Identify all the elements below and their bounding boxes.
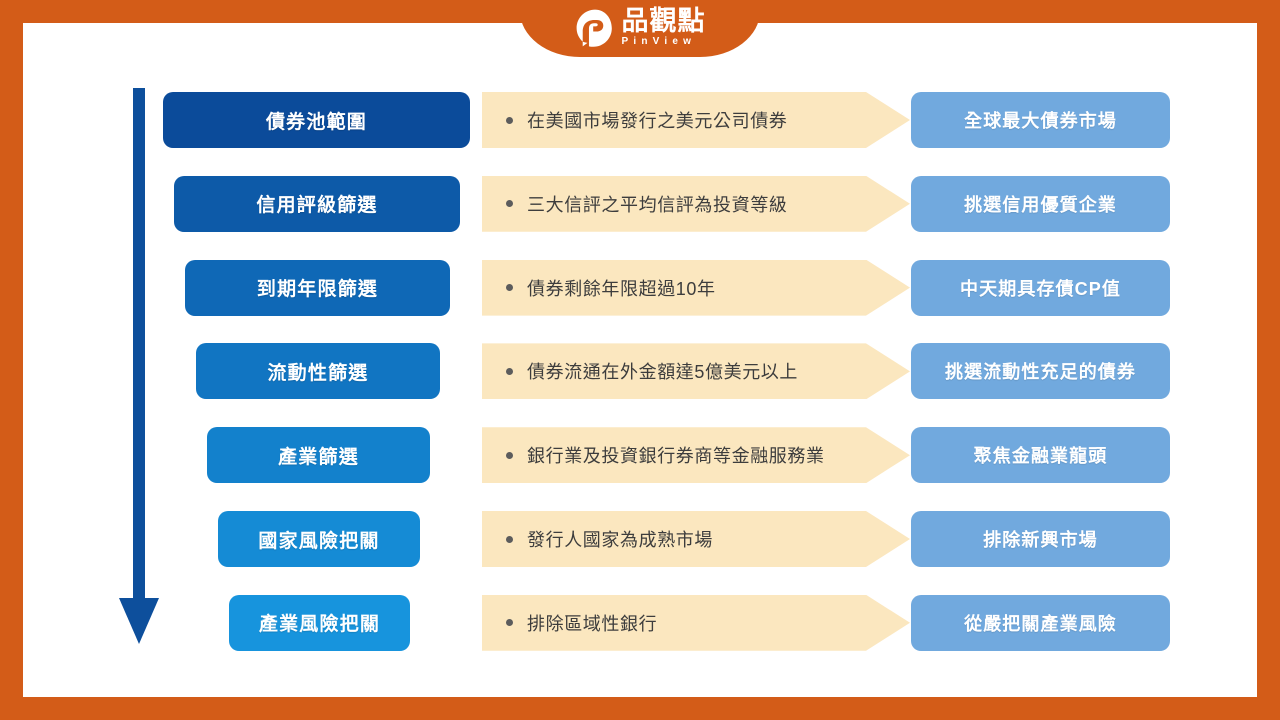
- stage-pill[interactable]: 到期年限篩選: [185, 260, 450, 316]
- flow-row: 國家風險把關發行人國家為成熟市場排除新興市場: [0, 511, 1280, 567]
- brand-name-cn: 品觀點: [622, 8, 706, 36]
- stage-pill[interactable]: 債券池範圍: [163, 92, 470, 148]
- bullet-dot-icon: [506, 284, 513, 291]
- brand-name-en: PinView: [622, 37, 697, 47]
- stage-pill[interactable]: 產業篩選: [207, 427, 430, 483]
- criterion-arrow-band: 排除區域性銀行: [482, 595, 910, 651]
- flow-row: 信用評級篩選三大信評之平均信評為投資等級挑選信用優質企業: [0, 176, 1280, 232]
- criterion-text: 三大信評之平均信評為投資等級: [527, 191, 787, 217]
- criterion-text: 發行人國家為成熟市場: [527, 526, 713, 552]
- criterion-text: 銀行業及投資銀行券商等金融服務業: [527, 442, 825, 468]
- criterion-text: 排除區域性銀行: [527, 610, 657, 636]
- bullet-dot-icon: [506, 368, 513, 375]
- criterion-arrow-band: 發行人國家為成熟市場: [482, 511, 910, 567]
- flow-row: 產業風險把關排除區域性銀行從嚴把關產業風險: [0, 595, 1280, 651]
- criterion-arrow-band: 在美國市場發行之美元公司債券: [482, 92, 910, 148]
- outcome-pill[interactable]: 從嚴把關產業風險: [911, 595, 1170, 651]
- criterion-arrow-band: 債券流通在外金額達5億美元以上: [482, 343, 910, 399]
- stage-pill[interactable]: 國家風險把關: [218, 511, 420, 567]
- criterion-arrow-band: 債券剩餘年限超過10年: [482, 260, 910, 316]
- outcome-pill[interactable]: 中天期具存債CP值: [911, 260, 1170, 316]
- flow-row: 產業篩選銀行業及投資銀行券商等金融服務業聚焦金融業龍頭: [0, 427, 1280, 483]
- criterion-text: 債券剩餘年限超過10年: [527, 275, 716, 301]
- outcome-pill[interactable]: 聚焦金融業龍頭: [911, 427, 1170, 483]
- outcome-pill[interactable]: 挑選信用優質企業: [911, 176, 1170, 232]
- bullet-dot-icon: [506, 200, 513, 207]
- brand-wordmark: 品觀點 PinView: [622, 8, 706, 48]
- outcome-pill[interactable]: 排除新興市場: [911, 511, 1170, 567]
- stage-pill[interactable]: 信用評級篩選: [174, 176, 460, 232]
- outcome-pill[interactable]: 全球最大債券市場: [911, 92, 1170, 148]
- criterion-text: 債券流通在外金額達5億美元以上: [527, 358, 798, 384]
- outcome-pill[interactable]: 挑選流動性充足的債券: [911, 343, 1170, 399]
- bullet-dot-icon: [506, 536, 513, 543]
- bullet-dot-icon: [506, 117, 513, 124]
- pinview-p-mark-icon: [575, 8, 615, 48]
- stage-pill[interactable]: 產業風險把關: [229, 595, 410, 651]
- flow-row: 債券池範圍在美國市場發行之美元公司債券全球最大債券市場: [0, 92, 1280, 148]
- stage-pill[interactable]: 流動性篩選: [196, 343, 440, 399]
- criterion-arrow-band: 三大信評之平均信評為投資等級: [482, 176, 910, 232]
- bullet-dot-icon: [506, 452, 513, 459]
- brand-logo-tab: 品觀點 PinView: [520, 0, 760, 57]
- criterion-arrow-band: 銀行業及投資銀行券商等金融服務業: [482, 427, 910, 483]
- flow-row: 到期年限篩選債券剩餘年限超過10年中天期具存債CP值: [0, 260, 1280, 316]
- slide-root: 品觀點 PinView 債券池範圍在美國市場發行之美元公司債券全球最大債券市場信…: [0, 0, 1280, 720]
- flow-row: 流動性篩選債券流通在外金額達5億美元以上挑選流動性充足的債券: [0, 343, 1280, 399]
- criterion-text: 在美國市場發行之美元公司債券: [527, 107, 787, 133]
- bullet-dot-icon: [506, 619, 513, 626]
- flow-rows: 債券池範圍在美國市場發行之美元公司債券全球最大債券市場信用評級篩選三大信評之平均…: [0, 0, 1280, 720]
